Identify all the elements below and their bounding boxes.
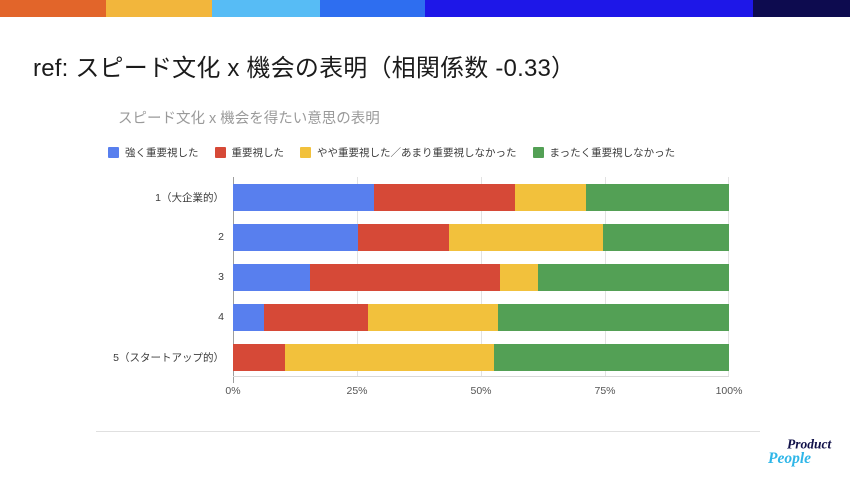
bar-segment[interactable] <box>310 264 500 291</box>
bar-segment[interactable] <box>264 304 368 331</box>
bar-segment[interactable] <box>500 264 538 291</box>
x-axis-ticks: 0%25%50%75%100% <box>233 385 729 401</box>
bar-segment[interactable] <box>538 264 729 291</box>
band-navy <box>753 0 850 17</box>
legend-label: 重要視した <box>232 145 285 160</box>
bar-segment[interactable] <box>233 224 358 251</box>
logo-word-product: Product <box>787 437 833 452</box>
bar-rows: 1（大企業的）2345（スタートアップ的） <box>233 177 729 377</box>
logo-word-people: People <box>768 450 811 467</box>
band-orange <box>0 0 106 17</box>
y-axis-label: 3 <box>218 271 224 283</box>
bar-segment[interactable] <box>449 224 603 251</box>
bar-segment[interactable] <box>285 344 495 371</box>
legend-swatch-icon <box>533 147 544 158</box>
x-tick-label: 25% <box>346 385 367 397</box>
bar-row: 2 <box>233 224 729 251</box>
bar-track <box>233 264 729 291</box>
legend-item[interactable]: まったく重要視しなかった <box>533 145 676 160</box>
legend-swatch-icon <box>215 147 226 158</box>
chart-title: スピード文化 x 機会を得たい意思の表明 <box>118 107 756 128</box>
bar-segment[interactable] <box>368 304 498 331</box>
band-medium-blue <box>320 0 425 17</box>
chart-plot-area: 1（大企業的）2345（スタートアップ的） 0%25%50%75%100% <box>96 177 756 409</box>
bar-track <box>233 344 729 371</box>
bar-track <box>233 184 729 211</box>
chart-legend: 強く重要視した重要視したやや重要視した／あまり重要視しなかったまったく重要視しな… <box>108 145 756 160</box>
bar-segment[interactable] <box>358 224 449 251</box>
bar-row: 4 <box>233 304 729 331</box>
y-axis-label: 1（大企業的） <box>155 190 224 205</box>
bar-track <box>233 224 729 251</box>
x-tick-label: 50% <box>470 385 491 397</box>
legend-item[interactable]: 強く重要視した <box>108 145 199 160</box>
band-light-blue <box>212 0 320 17</box>
bar-segment[interactable] <box>603 224 729 251</box>
bar-segment[interactable] <box>374 184 514 211</box>
x-tick-label: 75% <box>594 385 615 397</box>
slide-title: ref: スピード文化 x 機会の表明（相関係数 -0.33） <box>33 48 575 83</box>
bar-segment[interactable] <box>233 344 285 371</box>
bar-segment[interactable] <box>515 184 586 211</box>
bar-track <box>233 304 729 331</box>
product-people-logo: Product People <box>764 432 840 472</box>
band-yellow <box>106 0 212 17</box>
x-tick-label: 0% <box>225 385 240 397</box>
legend-item[interactable]: やや重要視した／あまり重要視しなかった <box>300 145 517 160</box>
y-axis-label: 5（スタートアップ的） <box>113 350 224 365</box>
bar-row: 3 <box>233 264 729 291</box>
band-bright-blue <box>425 0 753 17</box>
bar-segment[interactable] <box>233 264 310 291</box>
bar-row: 5（スタートアップ的） <box>233 344 729 371</box>
plot-inner: 1（大企業的）2345（スタートアップ的） <box>233 177 729 377</box>
legend-swatch-icon <box>300 147 311 158</box>
footer-divider <box>96 431 760 432</box>
logo-svg: Product People <box>764 432 840 472</box>
x-tick-label: 100% <box>716 385 743 397</box>
legend-label: 強く重要視した <box>125 145 199 160</box>
legend-swatch-icon <box>108 147 119 158</box>
legend-label: やや重要視した／あまり重要視しなかった <box>317 145 517 160</box>
legend-item[interactable]: 重要視した <box>215 145 285 160</box>
bar-segment[interactable] <box>498 304 729 331</box>
bar-segment[interactable] <box>233 184 374 211</box>
bar-segment[interactable] <box>233 304 264 331</box>
bar-segment[interactable] <box>586 184 729 211</box>
bar-segment[interactable] <box>494 344 729 371</box>
bar-row: 1（大企業的） <box>233 184 729 211</box>
chart-container: スピード文化 x 機会を得たい意思の表明 強く重要視した重要視したやや重要視した… <box>96 100 756 420</box>
y-axis-label: 2 <box>218 231 224 243</box>
y-axis-label: 4 <box>218 311 224 323</box>
top-color-band <box>0 0 850 17</box>
legend-label: まったく重要視しなかった <box>550 145 676 160</box>
